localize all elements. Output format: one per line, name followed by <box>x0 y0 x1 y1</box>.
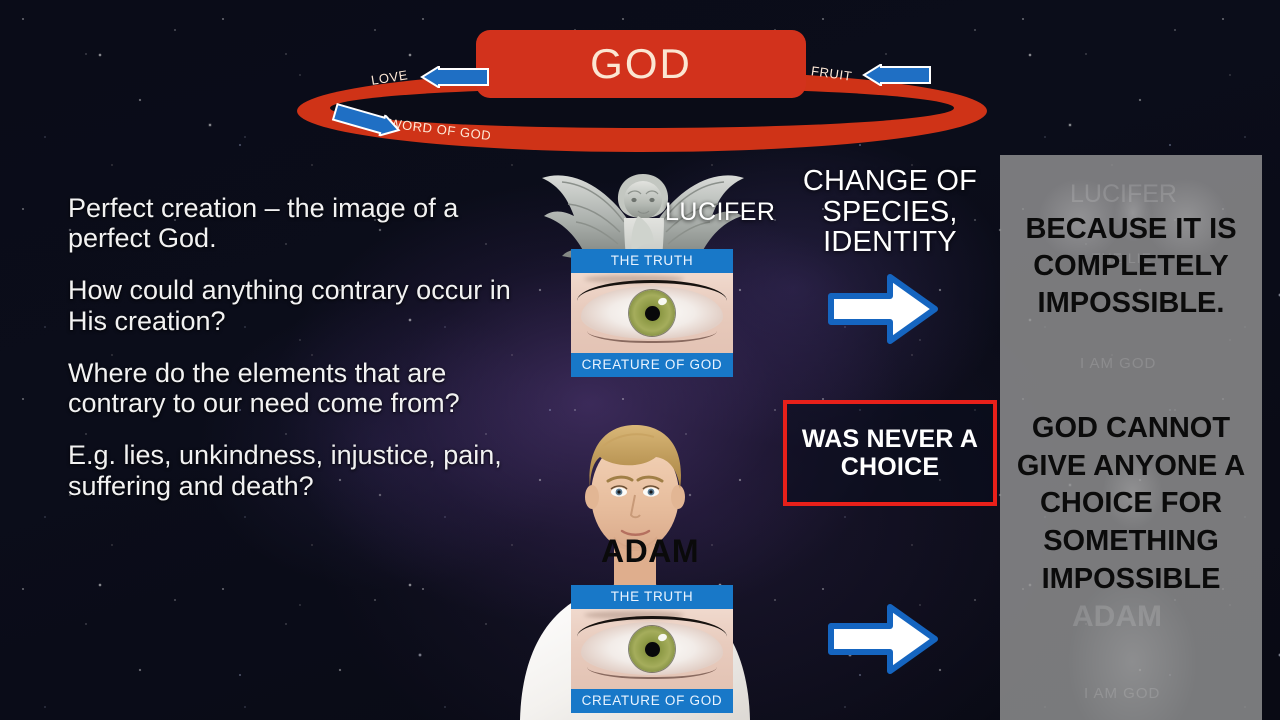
lucifer-bottom-bar: CREATURE OF GOD <box>571 353 733 377</box>
right-arrow-icon-top <box>826 270 940 353</box>
eye-image-adam <box>571 609 733 689</box>
paragraph-4: E.g. lies, unkindness, injustice, pain, … <box>68 440 548 500</box>
panel-statement-1: BECAUSE IT IS COMPLETELY IMPOSSIBLE. <box>1000 211 1262 322</box>
upper-eyelash <box>577 280 726 301</box>
eye-pupil <box>645 642 660 657</box>
was-never-a-choice-label: WAS NEVER A CHOICE <box>787 425 993 481</box>
eye-pupil <box>645 306 660 321</box>
lucifer-truth-card: THE TRUTH CREATURE OF GOD <box>571 249 733 377</box>
change-of-species-caption: CHANGE OF SPECIES, IDENTITY <box>760 166 1020 258</box>
lower-eyelash <box>587 331 717 344</box>
adam-top-bar: THE TRUTH <box>571 585 733 609</box>
right-arrow-icon-bottom <box>826 600 940 683</box>
explanation-panel: LUCIFER THE LIE I AM GOD ADAM I AM GOD B… <box>1000 155 1262 720</box>
lower-eyelash <box>587 667 717 680</box>
paragraph-3: Where do the elements that are contrary … <box>68 358 548 418</box>
left-arrow-icon <box>419 66 491 88</box>
lucifer-label: LUCIFER <box>665 198 775 227</box>
adam-bottom-bar: CREATURE OF GOD <box>571 689 733 713</box>
paragraph-2: How could anything contrary occur in His… <box>68 275 548 335</box>
upper-eyelash <box>577 616 726 637</box>
god-banner-label: GOD <box>590 40 692 88</box>
panel-statement-2: GOD CANNOT GIVE ANYONE A CHOICE FOR SOME… <box>1000 410 1262 598</box>
lucifer-top-bar: THE TRUTH <box>571 249 733 273</box>
adam-truth-card: THE TRUTH CREATURE OF GOD <box>571 585 733 713</box>
adam-label: ADAM <box>601 533 699 570</box>
was-never-a-choice-box: WAS NEVER A CHOICE <box>783 400 997 506</box>
right-ring-arrow-icon <box>861 64 933 86</box>
god-cycle-diagram: GOD LOVE FRUIT WORD OF GOD <box>297 30 987 155</box>
left-text-column: Perfect creation – the image of a perfec… <box>68 193 548 523</box>
paragraph-1: Perfect creation – the image of a perfec… <box>68 193 548 253</box>
ghost-label-i-am-god-top: I AM GOD <box>1080 355 1156 372</box>
slide-canvas: GOD LOVE FRUIT WORD OF GOD Perfect creat… <box>0 0 1280 720</box>
eye-image-lucifer <box>571 273 733 353</box>
god-banner: GOD <box>476 30 806 98</box>
